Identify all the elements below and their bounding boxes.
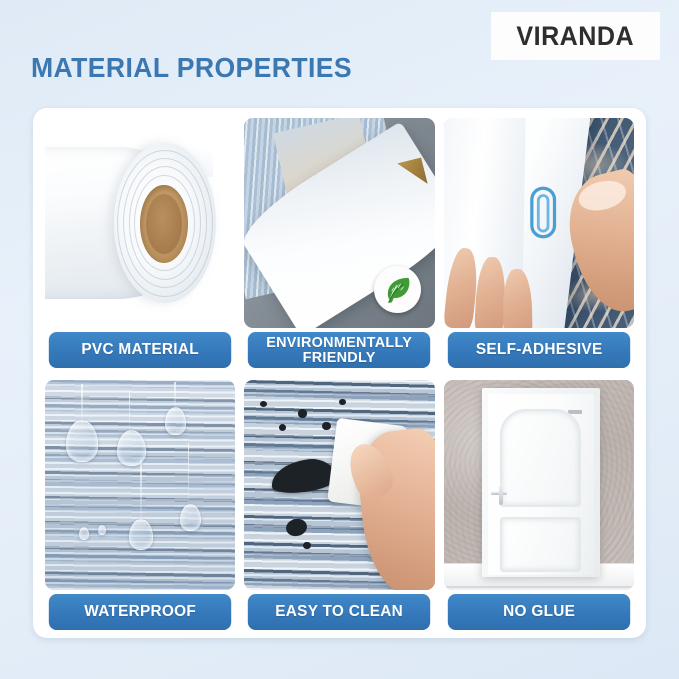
card-label-easy-to-clean: EASY TO CLEAN — [248, 594, 431, 630]
water-droplet — [165, 407, 186, 434]
page-title: MATERIAL PROPERTIES — [31, 52, 352, 84]
green-leaf-icon — [382, 274, 413, 305]
feature-card-easy-to-clean[interactable]: EASY TO CLEAN — [244, 380, 434, 630]
water-trail — [129, 391, 131, 435]
water-droplet — [117, 430, 146, 466]
brand-logo-box: VIRANDA — [491, 12, 660, 60]
water-droplet — [79, 527, 89, 540]
stain-spot — [303, 542, 311, 549]
paperclip-icon — [527, 181, 559, 244]
waterproof-image — [45, 380, 235, 590]
baseboard-trim-line — [444, 586, 634, 588]
card-label-self-adhesive: SELF-ADHESIVE — [447, 332, 630, 368]
eco-badge — [374, 266, 422, 314]
eco-roll-image — [244, 118, 434, 328]
stain-spot — [298, 409, 308, 417]
card-label-waterproof: WATERPROOF — [49, 594, 232, 630]
brand-name: VIRANDA — [517, 21, 635, 52]
door-panel-top — [500, 409, 581, 507]
stain-spot — [285, 517, 309, 538]
easy-to-clean-image — [244, 380, 434, 590]
water-trail — [188, 443, 190, 506]
handle-plate — [499, 485, 503, 505]
stain-spot — [260, 401, 268, 407]
roll-core-hole — [146, 194, 182, 255]
door-leaf — [488, 394, 594, 575]
card-label-pvc-material: PVC MATERIAL — [49, 332, 232, 368]
feature-grid: PVC MATERIAL — [45, 118, 634, 630]
stain-spot — [279, 424, 287, 431]
feature-card-environmentally-friendly[interactable]: ENVIRONMENTALLY FRIENDLY — [244, 118, 434, 368]
water-droplet — [180, 504, 201, 531]
large-stain — [269, 456, 337, 495]
door-handle — [491, 485, 507, 505]
feature-card-pvc-material[interactable]: PVC MATERIAL — [45, 118, 235, 368]
feature-card-waterproof[interactable]: WATERPROOF — [45, 380, 235, 630]
self-adhesive-image — [444, 118, 634, 328]
water-trail — [140, 460, 142, 523]
water-droplet — [66, 420, 98, 462]
no-glue-image — [444, 380, 634, 590]
pvc-roll-image — [45, 118, 235, 328]
feature-panel: PVC MATERIAL — [33, 108, 646, 638]
water-droplet — [129, 519, 154, 551]
water-trail — [174, 382, 176, 409]
door-panel-bottom — [500, 517, 581, 571]
card-label-no-glue: NO GLUE — [447, 594, 630, 630]
card-label-environmentally-friendly: ENVIRONMENTALLY FRIENDLY — [248, 332, 431, 368]
door-frame — [482, 388, 600, 577]
stain-spot — [322, 422, 331, 430]
water-droplet — [98, 525, 106, 536]
stain-spot — [339, 399, 346, 405]
feature-card-self-adhesive[interactable]: SELF-ADHESIVE — [444, 118, 634, 368]
feature-card-no-glue[interactable]: NO GLUE — [444, 380, 634, 630]
